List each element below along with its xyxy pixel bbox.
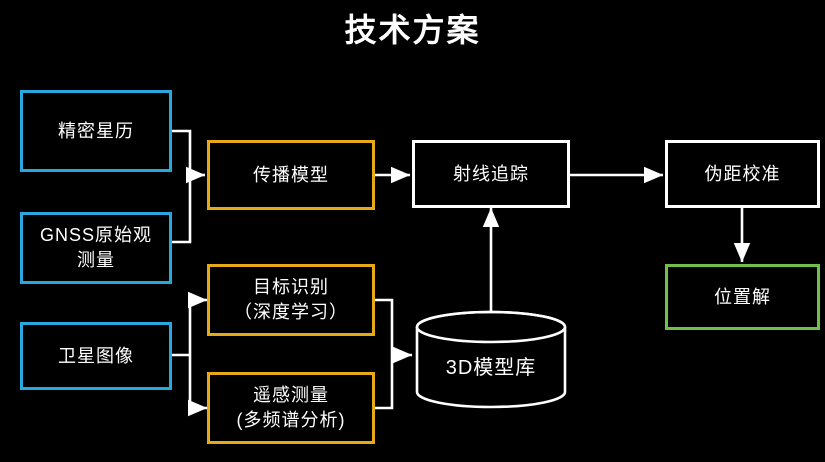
node-remote-sensing-label: 遥感测量: [253, 385, 329, 405]
node-remote-sensing-label-line2: (多频谱分析): [237, 408, 346, 433]
wire-remote-sensing-to-merge: [375, 355, 392, 408]
node-object-recognition[interactable]: 目标识别 （深度学习）: [207, 264, 375, 336]
node-model-library-3d[interactable]: 3D模型库: [412, 310, 570, 410]
wire-gnss-to-merge: [171, 175, 190, 242]
node-gnss-raw-observations-label: GNSS原始观: [40, 225, 152, 245]
node-propagation-model-label: 传播模型: [253, 165, 329, 185]
node-ray-tracing-label: 射线追踪: [453, 164, 529, 184]
node-satellite-imagery[interactable]: 卫星图像: [20, 322, 172, 390]
node-pseudorange-calibration-label: 伪距校准: [705, 164, 781, 184]
node-propagation-model[interactable]: 传播模型: [207, 140, 375, 210]
node-ray-tracing[interactable]: 射线追踪: [412, 140, 570, 208]
node-position-solution[interactable]: 位置解: [665, 264, 820, 330]
wire-ephemeris-to-merge: [171, 131, 190, 175]
wire-split-to-remote-sensing: [190, 355, 207, 408]
node-object-recognition-label: 目标识别: [253, 277, 329, 297]
node-satellite-imagery-label: 卫星图像: [58, 346, 134, 366]
page-title: 技术方案: [0, 8, 825, 52]
node-pseudorange-calibration[interactable]: 伪距校准: [665, 140, 820, 208]
node-object-recognition-label-line2: （深度学习）: [234, 300, 348, 325]
node-model-library-3d-label: 3D模型库: [446, 351, 537, 380]
node-position-solution-label: 位置解: [714, 287, 771, 307]
node-gnss-raw-observations-label-line2: 测量: [40, 248, 152, 273]
node-precise-ephemeris[interactable]: 精密星历: [20, 90, 172, 172]
node-precise-ephemeris-label: 精密星历: [58, 121, 134, 141]
wire-object-recognition-to-merge: [375, 300, 392, 355]
node-remote-sensing[interactable]: 遥感测量 (多频谱分析): [207, 372, 375, 444]
node-gnss-raw-observations[interactable]: GNSS原始观 测量: [20, 212, 172, 284]
diagram-canvas: 技术方案: [0, 0, 825, 462]
wire-split-to-object-recognition: [190, 300, 207, 355]
